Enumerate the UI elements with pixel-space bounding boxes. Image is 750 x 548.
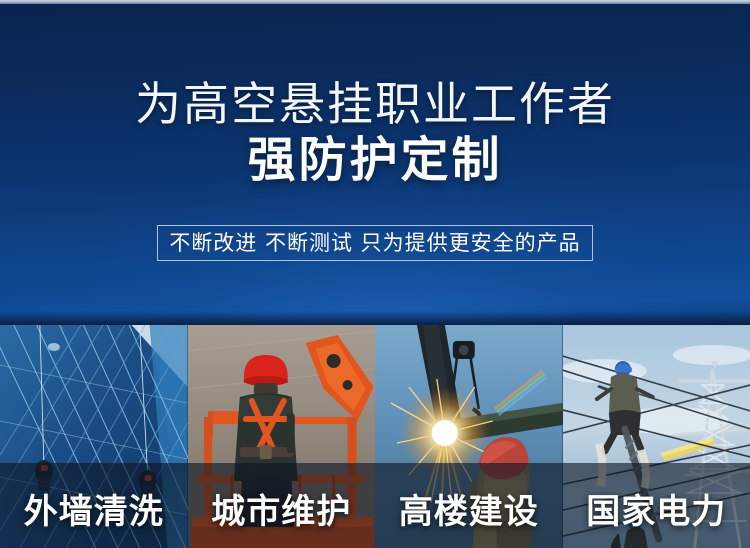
application-scene-strip: 外墙清洗 <box>0 325 750 548</box>
hero-subtitle-box: 不断改进 不断测试 只为提供更安全的产品 <box>157 225 593 261</box>
panel-label-exterior-wall-cleaning: 外墙清洗 <box>0 492 188 532</box>
panel-exterior-wall-cleaning[interactable]: 外墙清洗 <box>0 325 188 548</box>
panel-national-power-grid[interactable]: 国家电力 <box>563 325 750 548</box>
hero-headline-line2: 强防护定制 <box>0 132 750 188</box>
panel-label-high-rise-construction: 高楼建设 <box>375 492 563 532</box>
hero-headline-line1: 为高空悬挂职业工作者 <box>0 78 750 130</box>
hero-subtitle-text: 不断改进 不断测试 只为提供更安全的产品 <box>169 231 580 255</box>
promo-banner-page: 为高空悬挂职业工作者 强防护定制 不断改进 不断测试 只为提供更安全的产品 <box>0 0 750 548</box>
panel-label-national-power-grid: 国家电力 <box>563 492 750 532</box>
panel-high-rise-construction[interactable]: 高楼建设 <box>375 325 563 548</box>
hero-banner: 为高空悬挂职业工作者 强防护定制 不断改进 不断测试 只为提供更安全的产品 <box>0 4 750 325</box>
panel-label-city-maintenance: 城市维护 <box>188 492 376 532</box>
panel-city-maintenance[interactable]: 城市维护 <box>188 325 376 548</box>
